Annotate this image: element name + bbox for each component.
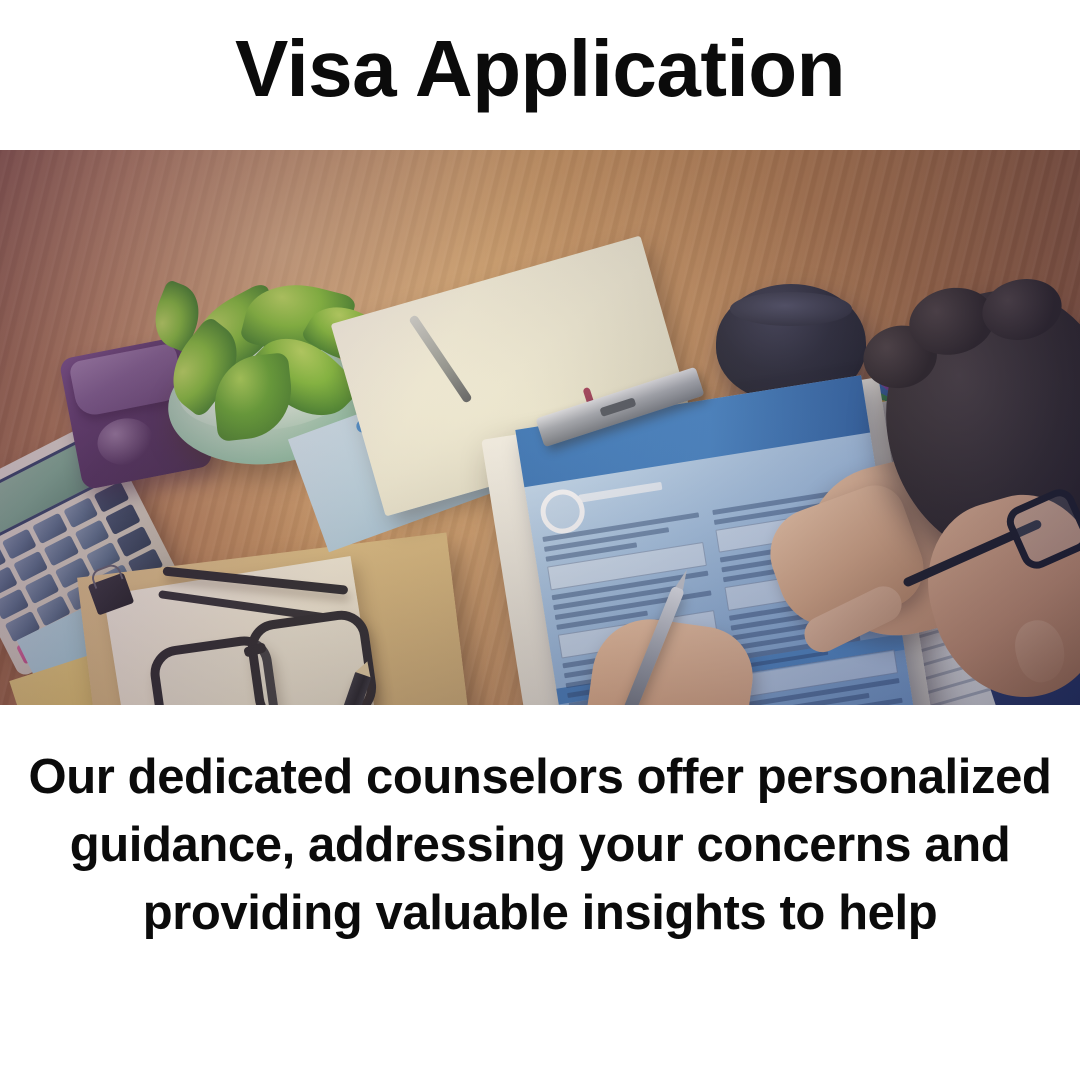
caption-section: Our dedicated counselors offer personali… (0, 705, 1080, 1080)
cup-rim (730, 292, 852, 326)
pouch-highlight (93, 414, 157, 470)
hero-photo (0, 150, 1080, 705)
caption-text: Our dedicated counselors offer personali… (4, 743, 1076, 947)
title-section: Visa Application (0, 0, 1080, 150)
form-title-text (578, 482, 662, 503)
page-root: Visa Application (0, 0, 1080, 1080)
photo-canvas (0, 150, 1080, 705)
page-title: Visa Application (235, 26, 845, 112)
